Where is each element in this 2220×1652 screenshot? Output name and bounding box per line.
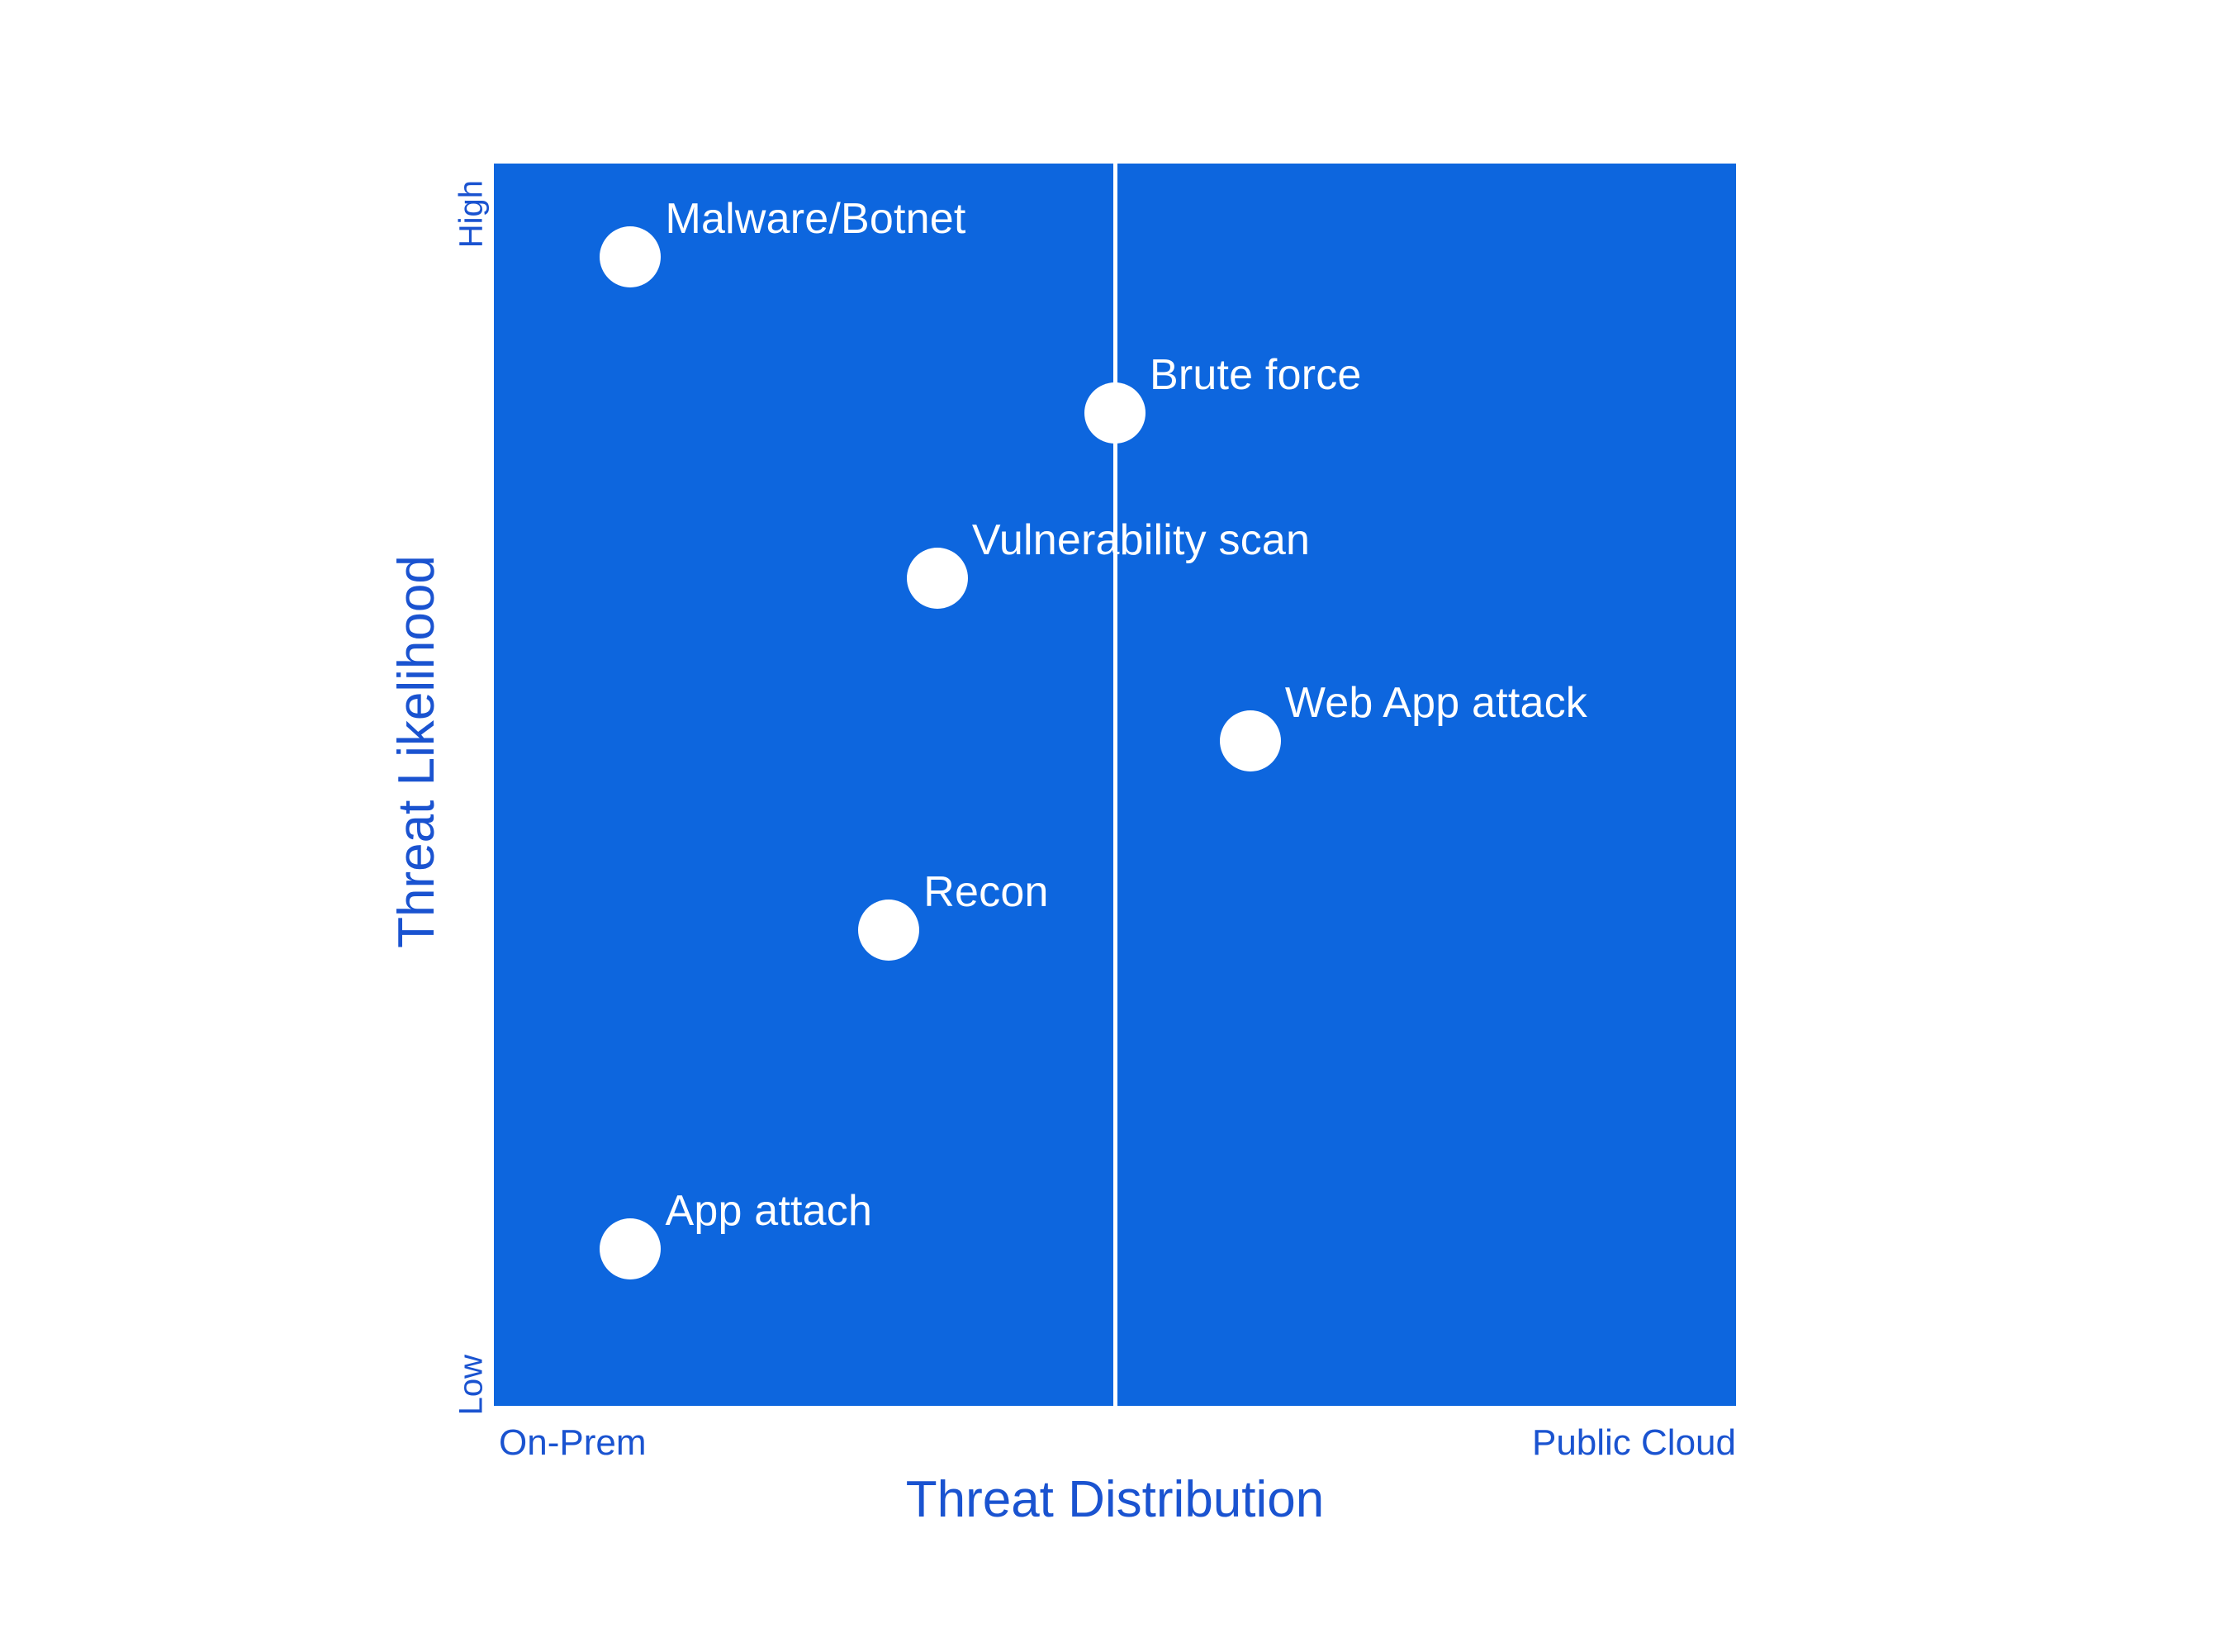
data-point-label: Web App attack bbox=[1285, 681, 1587, 724]
data-point-marker bbox=[1084, 382, 1146, 444]
y-axis-title: Threat Likelihood bbox=[391, 555, 443, 948]
data-point-marker bbox=[600, 226, 661, 287]
plot-area: Malware/BotnetBrute forceVulnerability s… bbox=[494, 164, 1736, 1406]
data-point-label: App attach bbox=[665, 1189, 872, 1232]
data-point-marker bbox=[858, 900, 919, 961]
x-axis-title: Threat Distribution bbox=[494, 1474, 1736, 1526]
x-axis-tick-public-cloud: Public Cloud bbox=[1323, 1425, 1736, 1461]
y-axis-tick-high: High bbox=[0, 164, 471, 197]
data-point-label: Recon bbox=[923, 871, 1048, 914]
quadrant-divider-line bbox=[1113, 164, 1117, 1406]
y-axis-tick-low-label: Low bbox=[454, 1355, 487, 1415]
data-point-marker bbox=[907, 548, 968, 609]
data-point-label: Vulnerability scan bbox=[972, 519, 1310, 562]
data-point-marker bbox=[1220, 710, 1281, 771]
x-axis-tick-on-prem: On-Prem bbox=[499, 1425, 646, 1461]
data-point-label: Malware/Botnet bbox=[665, 197, 965, 240]
data-point-marker bbox=[600, 1218, 661, 1279]
threat-quadrant-chart: High Low Malware/BotnetBrute forceVulner… bbox=[0, 0, 2220, 1652]
y-axis-tick-low: Low bbox=[0, 1338, 471, 1371]
data-point-label: Brute force bbox=[1150, 354, 1362, 396]
y-axis-tick-high-label: High bbox=[454, 180, 487, 248]
